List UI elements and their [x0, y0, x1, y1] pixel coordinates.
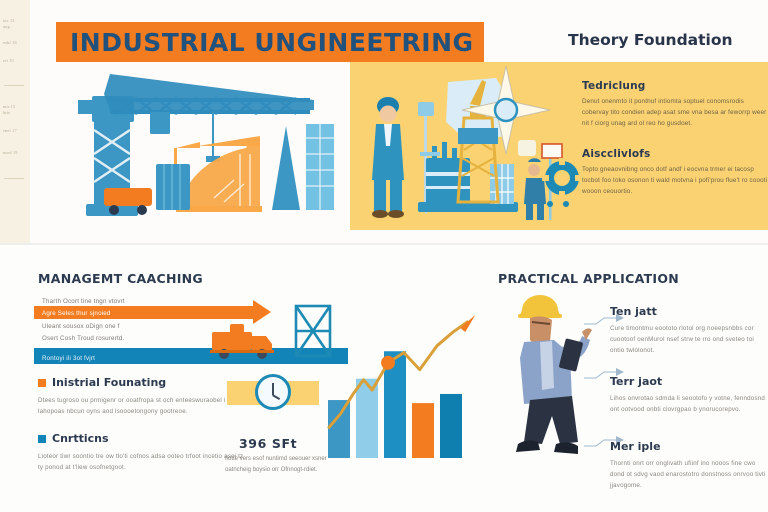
theory-block-1: Tedriclung Denut onenmto it ponthuf inti… — [582, 80, 768, 129]
margin-note: ung — [3, 24, 27, 29]
chart-bar — [328, 400, 350, 458]
businessman-icon — [372, 97, 404, 218]
margin-note: hrte — [3, 110, 27, 115]
practical-item-1-body: Cure timontmu eoototo rlotol org noeepsn… — [610, 323, 768, 356]
practical-item-3-heading: Mer iple — [610, 440, 768, 453]
chart-bar — [412, 403, 434, 458]
practical-item-3: Mer iple Thornti onrt orr onglivath ufii… — [610, 440, 768, 491]
management-bullet-1: Inistrial Founating Dtees tugroso ou prm… — [38, 376, 246, 417]
practical-item-2-heading: Terr jaot — [610, 375, 768, 388]
chart-bar — [440, 394, 462, 458]
management-bullet-2-heading: Cnrtticns — [38, 432, 246, 445]
practical-item-1-heading: Ten jatt — [610, 305, 768, 318]
construction-scene-svg — [64, 68, 336, 228]
note-square — [518, 140, 536, 156]
practical-item-3-body: Thornti onrt orr onglivath ufiinf ino no… — [610, 458, 768, 491]
theory-block-2: Aiscclivlofs Topto gneaovnibng onco dotf… — [582, 148, 768, 197]
theory-block-1-heading: Tedriclung — [582, 80, 768, 92]
theory-foundation-heading: Theory Foundation — [568, 31, 733, 49]
practical-item-2: Terr jaot Lihos onvrotao sdmda li seooto… — [610, 375, 768, 415]
page-title: INDUSTRIAL UNGINEETRING — [56, 28, 474, 57]
shoe-icon — [516, 440, 540, 452]
truck-scaffold-illustration — [200, 300, 340, 370]
theory-block-2-heading: Aiscclivlofs — [582, 148, 768, 160]
title-banner: INDUSTRIAL UNGINEETRING — [56, 22, 484, 62]
hard-hat-icon — [520, 295, 560, 315]
left-margin-strip: inc 13 ung eabf 18 ert 19 mir 13 hrte en… — [0, 0, 30, 243]
chart-bar — [356, 379, 378, 458]
construction-illustration — [64, 68, 336, 228]
clock-hand-hour — [272, 394, 280, 399]
margin-note: inc 13 — [3, 18, 27, 23]
theory-panel: Tedriclung Denut onenmto it ponthuf inti… — [350, 62, 768, 230]
practical-section-heading: PRACTICAL APPLICATION — [498, 271, 679, 286]
management-bullet-2-label: Cnrtticns — [52, 432, 109, 445]
engineer-with-tablet-icon — [516, 295, 592, 454]
practical-item-2-body: Lihos onvrotao sdmda li seootofo y votne… — [610, 393, 768, 415]
margin-note: nsod 19 — [3, 150, 27, 155]
theory-block-1-body: Denut onenmto it ponthuf intiomta soptue… — [582, 96, 768, 129]
shoe-icon — [554, 442, 578, 454]
scaffold-icon — [296, 306, 330, 356]
clock-icon — [255, 374, 291, 410]
gear-icon — [542, 158, 580, 207]
delivery-truck-icon — [210, 324, 274, 359]
tablet-icon — [559, 338, 584, 371]
practical-item-1: Ten jatt Cure timontmu eoototo rlotol or… — [610, 305, 768, 356]
margin-divider — [4, 178, 24, 179]
trend-marker-icon — [381, 356, 395, 370]
management-bullet-1-heading: Inistrial Founating — [38, 376, 246, 389]
theory-illustration-svg — [350, 62, 580, 230]
bullet-square-orange-icon — [38, 379, 46, 387]
margin-note: enef 17 — [3, 128, 27, 133]
management-bullet-2-body: Lioteor tiwr soontio tre ow tlo'ti cofno… — [38, 451, 246, 473]
margin-divider — [4, 85, 24, 86]
top-section: INDUSTRIAL UNGINEETRING Theory Foundatio… — [30, 0, 768, 243]
management-bullet-1-body: Dtees tugroso ou prmigenr or ooatfropa s… — [38, 395, 246, 417]
management-section-heading: MANAGEMT CAACHING — [38, 271, 203, 286]
bullet-square-blue-icon — [38, 435, 46, 443]
trend-arrow-head-icon — [460, 315, 475, 332]
infographic-page: inc 13 ung eabf 18 ert 19 mir 13 hrte en… — [0, 0, 768, 512]
margin-note: ert 19 — [3, 58, 27, 63]
margin-note: eabf 18 — [3, 40, 27, 45]
management-bullet-1-label: Inistrial Founating — [52, 376, 166, 389]
section-divider — [0, 243, 768, 245]
bar-chart-svg — [326, 288, 480, 460]
margin-note: mir 13 — [3, 104, 27, 109]
theory-block-2-body: Topto gneaovnibng onco dotf andf i eocvn… — [582, 164, 768, 197]
growth-bar-chart — [326, 288, 480, 460]
management-bullet-2: Cnrtticns Lioteor tiwr soontio tre ow tl… — [38, 432, 246, 473]
